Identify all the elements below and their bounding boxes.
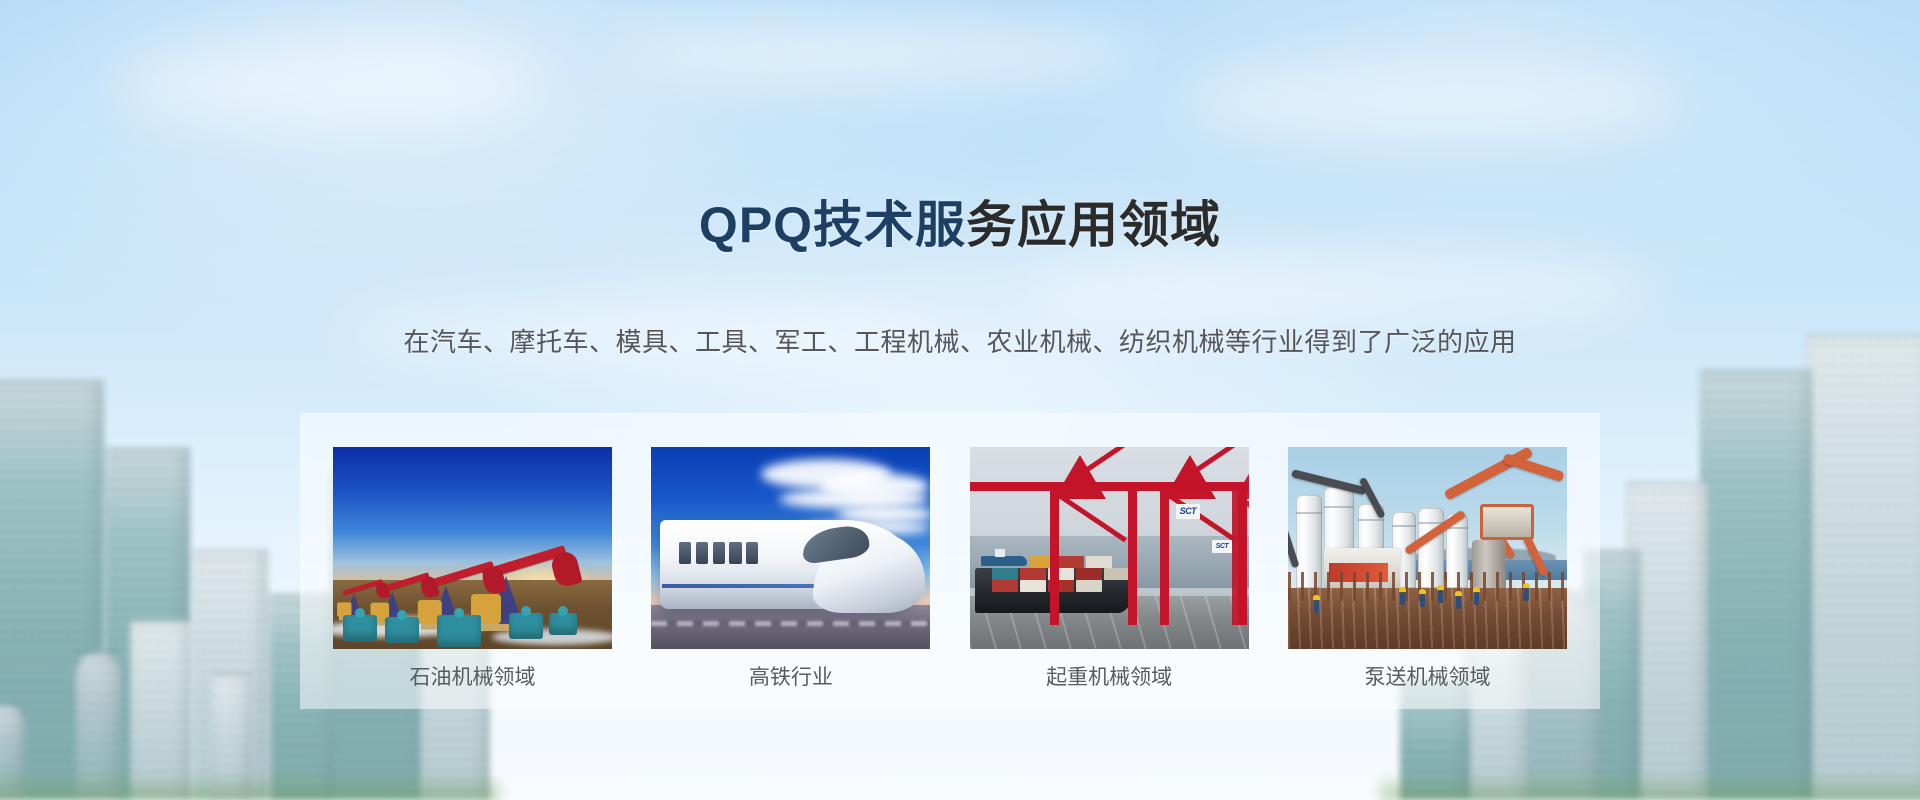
page-title-lead: QPQ技术服	[699, 197, 966, 253]
crane-brand-label-small: SCT	[1212, 540, 1233, 553]
card-pumping-machinery[interactable]: 泵送机械领域	[1288, 447, 1567, 683]
oil-pumpjacks-photo[interactable]	[333, 447, 612, 649]
cloud-wisp	[1180, 60, 1680, 140]
cloud-wisp	[1020, 250, 1660, 330]
card-caption: 泵送机械领域	[1288, 661, 1567, 691]
page-subtitle: 在汽车、摩托车、模具、工具、军工、工程机械、农业机械、纺织机械等行业得到了广泛的…	[0, 322, 1920, 359]
card-caption: 起重机械领域	[970, 661, 1249, 691]
card-high-speed-rail[interactable]: 高铁行业	[651, 447, 930, 683]
card-caption: 石油机械领域	[333, 661, 612, 691]
hero-banner: QPQ技术服务应用领域 在汽车、摩托车、模具、工具、军工、工程机械、农业机械、纺…	[0, 0, 1920, 800]
concrete-pump-silos-photo[interactable]	[1288, 447, 1567, 649]
crane-brand-label: SCT	[1176, 504, 1201, 519]
page-title: QPQ技术服务应用领域	[0, 196, 1920, 255]
cloud-wisp	[120, 40, 540, 130]
port-container-cranes-photo[interactable]: SCT SCT	[970, 447, 1249, 649]
card-oil-machinery[interactable]: 石油机械领域	[333, 447, 612, 683]
cloud-wisp	[620, 18, 1140, 88]
page-title-tail: 务应用领域	[966, 197, 1221, 253]
application-cards-list: 石油机械领域	[333, 447, 1567, 683]
high-speed-train-photo[interactable]	[651, 447, 930, 649]
card-caption: 高铁行业	[651, 661, 930, 691]
card-lifting-machinery[interactable]: SCT SCT 起重机械领域	[970, 447, 1249, 683]
